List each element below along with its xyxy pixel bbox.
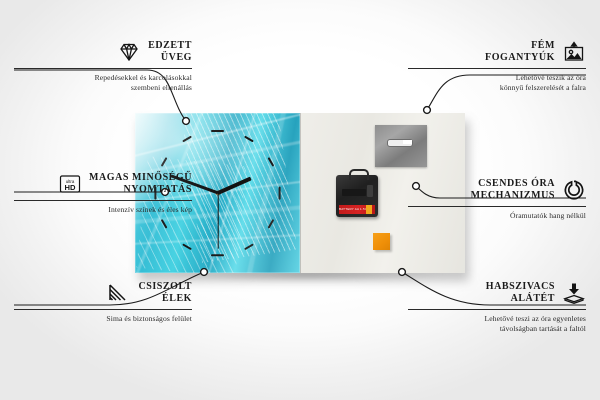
callout-title: CSISZOLT ÉLEK [138, 281, 192, 305]
callout-desc: Óramutatók hang nélkül [408, 211, 586, 221]
callout-title: EDZETT ÜVEG [148, 40, 192, 64]
clock-tick [211, 130, 224, 132]
callout-desc: Repedésekkel és karcolásokkal szembeni e… [14, 73, 192, 93]
polished-edges-icon [107, 281, 131, 305]
callout-metal-handles[interactable]: FÉM FOGANTYÚK Lehetővé teszik az óra kön… [408, 40, 586, 93]
callout-head: HABSZIVACS ALÁTÉT [408, 281, 586, 305]
callout-head: FÉM FOGANTYÚK [408, 40, 586, 64]
callout-tempered-glass[interactable]: EDZETT ÜVEG Repedésekkel és karcolásokka… [14, 40, 192, 93]
callout-head: ultra HD MAGAS MINŐSÉGŰ NYOMTATÁS [14, 172, 192, 196]
diamond-icon [117, 40, 141, 64]
callout-head: CSENDES ÓRA MECHANIZMUS [408, 178, 586, 202]
callout-desc: Sima és biztonságos felület [14, 314, 192, 324]
clock-mechanism: BATTERY AA 1.5V [336, 175, 378, 217]
picture-hanger-icon [562, 40, 586, 64]
foam-pad-icon [562, 281, 586, 305]
callout-rule [408, 68, 586, 69]
callout-high-quality-print[interactable]: ultra HD MAGAS MINŐSÉGŰ NYOMTATÁS Intenz… [14, 172, 192, 215]
callout-desc: Intenzív színek és éles kép [14, 205, 192, 215]
callout-title: MAGAS MINŐSÉGŰ NYOMTATÁS [89, 172, 192, 196]
clock-tick [211, 254, 224, 256]
callout-polished-edges[interactable]: CSISZOLT ÉLEK Sima és biztonságos felüle… [14, 281, 192, 324]
callout-rule [408, 206, 586, 207]
clock-tick [278, 186, 280, 199]
mechanism-loop [349, 169, 369, 180]
callout-head: EDZETT ÜVEG [14, 40, 192, 64]
gear-icon [562, 178, 586, 202]
hanger-slot [387, 139, 413, 147]
infographic-canvas: BATTERY AA 1.5V EDZETT ÜVEG [0, 0, 600, 400]
callout-desc: Lehetővé teszik az óra könnyű felszerelé… [408, 73, 586, 93]
callout-rule [14, 200, 192, 201]
callout-foam-pad[interactable]: HABSZIVACS ALÁTÉT Lehetővé teszi az óra … [408, 281, 586, 334]
metal-hanger [375, 125, 427, 167]
callout-title: HABSZIVACS ALÁTÉT [486, 281, 555, 305]
mechanism-plus-mark [366, 205, 372, 214]
callout-desc: Lehetővé teszi az óra egyenletes távolsá… [408, 314, 586, 334]
callout-rule [14, 309, 192, 310]
second-hand [217, 193, 218, 249]
foam-pad-sticker [373, 233, 390, 250]
ultra-hd-icon: ultra HD [58, 172, 82, 196]
callout-title: CSENDES ÓRA MECHANIZMUS [471, 178, 555, 202]
callout-title: FÉM FOGANTYÚK [485, 40, 555, 64]
callout-silent-mechanism[interactable]: CSENDES ÓRA MECHANIZMUS Óramutatók hang … [408, 178, 586, 221]
callout-rule [14, 68, 192, 69]
mechanism-knob [367, 185, 373, 197]
svg-text:HD: HD [65, 183, 76, 192]
callout-head: CSISZOLT ÉLEK [14, 281, 192, 305]
mechanism-battery-slot [342, 189, 366, 196]
callout-rule [408, 309, 586, 310]
